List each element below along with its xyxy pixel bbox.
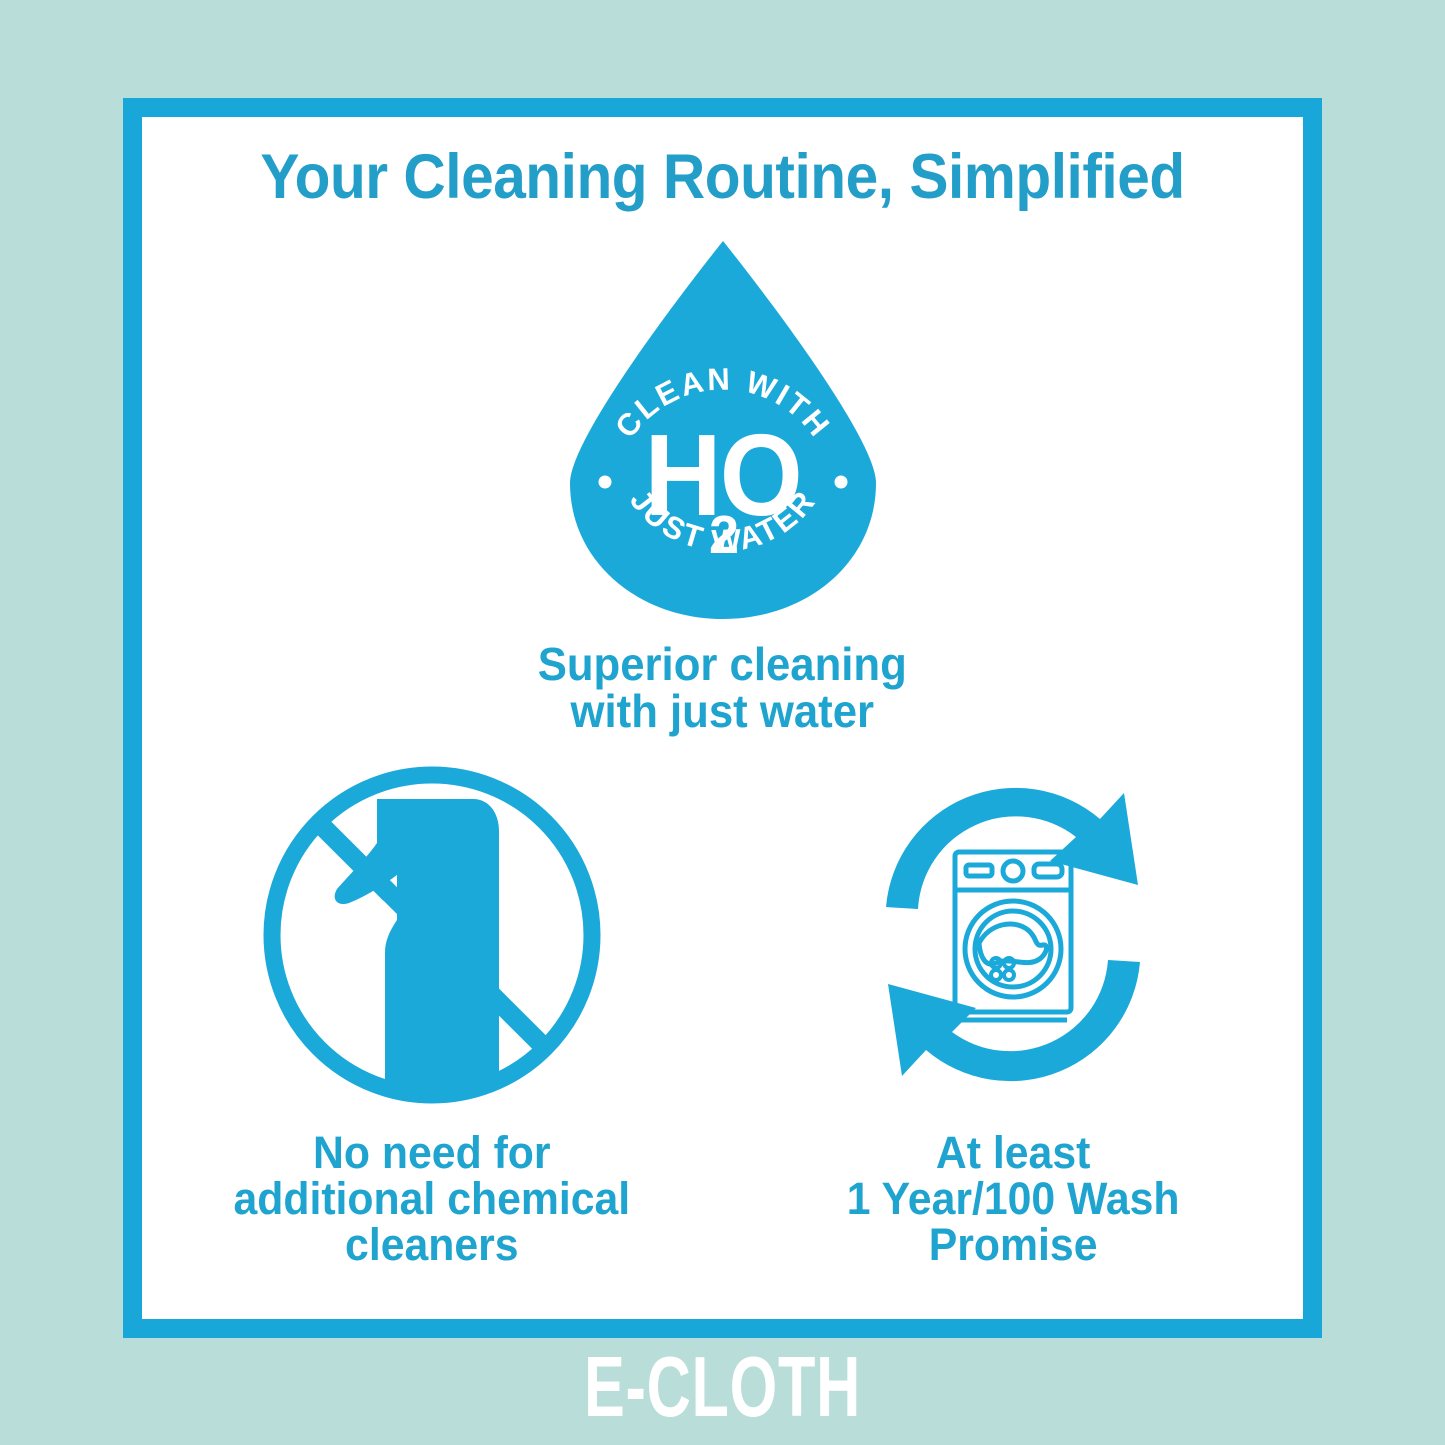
feature-water-caption: Superior cleaning with just water: [538, 641, 907, 735]
spray-bottle-shape: [335, 799, 499, 1087]
water-droplet-icon: CLEAN WITH JUST WATER HO 2: [558, 235, 888, 625]
feature-no-chemicals-caption-line1: No need for: [234, 1130, 631, 1176]
feature-wash-promise-caption: At least 1 Year/100 Wash Promise: [846, 1130, 1179, 1268]
feature-wash-promise: At least 1 Year/100 Wash Promise: [746, 757, 1280, 1268]
brand-logo: E-CLOTH: [202, 1345, 1242, 1430]
feature-no-chemicals-caption-line3: cleaners: [234, 1222, 631, 1268]
no-spray-bottle-icon: [257, 757, 607, 1112]
infographic-canvas: Your Cleaning Routine, Simplified CLEAN …: [0, 0, 1445, 1445]
feature-water-caption-line1: Superior cleaning: [538, 641, 907, 688]
feature-no-chemicals: No need for additional chemical cleaners: [165, 757, 699, 1268]
feature-wash-promise-caption-line1: At least: [846, 1130, 1179, 1176]
page-title: Your Cleaning Routine, Simplified: [183, 141, 1263, 213]
badge-dot-left: [598, 476, 611, 489]
feature-no-chemicals-caption: No need for additional chemical cleaners: [234, 1130, 631, 1268]
prohibition-slash-front: [492, 995, 545, 1048]
feature-no-chemicals-caption-line2: additional chemical: [234, 1176, 631, 1222]
wash-cycle-icon: [838, 757, 1188, 1112]
badge-formula-subscript: 2: [708, 505, 738, 565]
washing-machine-icon: [955, 852, 1071, 1020]
water-droplet-badge: CLEAN WITH JUST WATER HO 2: [558, 235, 888, 625]
feature-water: CLEAN WITH JUST WATER HO 2: [142, 235, 1303, 735]
feature-wash-promise-caption-line2: 1 Year/100 Wash: [846, 1176, 1179, 1222]
badge-dot-right: [834, 476, 847, 489]
content-panel: Your Cleaning Routine, Simplified CLEAN …: [123, 98, 1322, 1338]
feature-wash-promise-caption-line3: Promise: [846, 1222, 1179, 1268]
feature-row-bottom: No need for additional chemical cleaners: [142, 757, 1303, 1268]
cycle-arrows: [886, 788, 1140, 1081]
feature-water-caption-line2: with just water: [538, 688, 907, 735]
